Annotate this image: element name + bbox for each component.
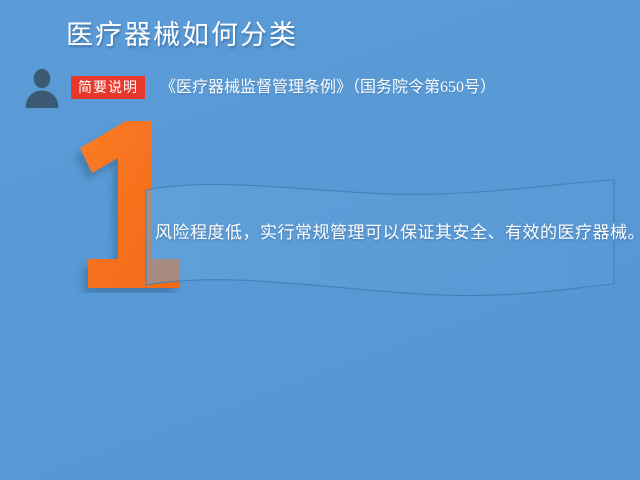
page-title: 医疗器械如何分类	[66, 18, 298, 52]
person-silhouette-icon	[21, 66, 63, 108]
status-badge: 简要说明	[71, 76, 145, 99]
regulation-reference: 《医疗器械监督管理条例》（国务院令第650号）	[160, 77, 496, 99]
slide-canvas: 医疗器械如何分类 简要说明 《医疗器械监督管理条例》（国务院令第650号）	[0, 0, 640, 480]
classification-description: 风险程度低，实行常规管理可以保证其安全、有效的医疗器械。	[155, 220, 610, 246]
